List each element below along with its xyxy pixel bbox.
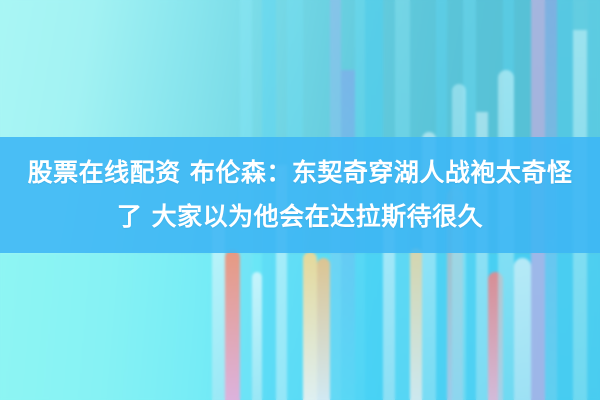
bar-9 [317, 258, 330, 400]
bar-2 [225, 250, 240, 400]
bar-8 [303, 252, 317, 400]
bar-4 [252, 272, 262, 400]
bar-16 [410, 248, 422, 400]
bar-24 [514, 258, 531, 400]
promo-banner: 股票在线配资 布伦森：东契奇穿湖人战袍太奇怪 了 大家以为他会在达拉斯待很久 [0, 0, 600, 400]
title-line-2: 了 大家以为他会在达拉斯待很久 [117, 195, 483, 239]
title-line-1: 股票在线配资 布伦森：东契奇穿湖人战袍太奇怪 [28, 151, 573, 195]
title-band: 股票在线配资 布伦森：东契奇穿湖人战袍太奇怪 了 大家以为他会在达拉斯待很久 [0, 137, 600, 253]
